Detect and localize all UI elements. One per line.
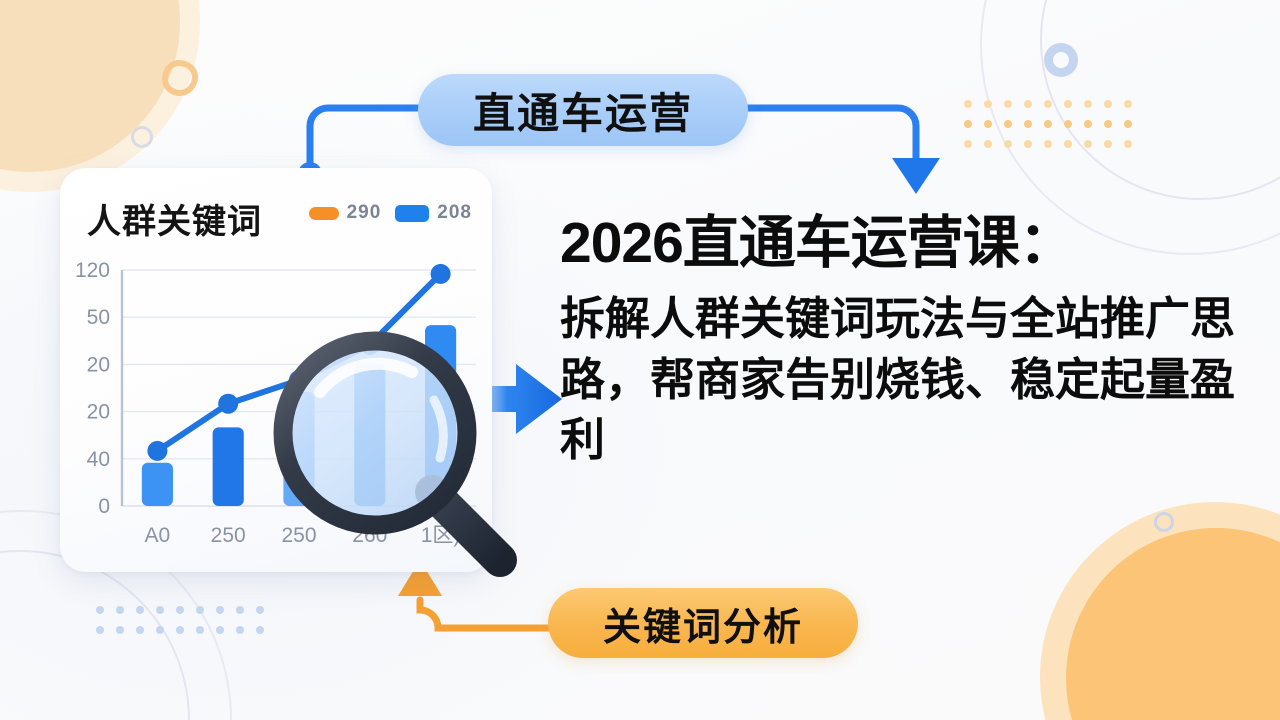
legend-item-orange: 290 — [309, 202, 382, 224]
decor-blob-bottom-right — [1066, 528, 1280, 720]
svg-text:20: 20 — [87, 401, 110, 424]
badge-top[interactable]: 直通车运营 — [418, 74, 748, 146]
decor-ring-gray-icon — [131, 126, 153, 148]
legend-swatch-orange-icon — [309, 207, 339, 220]
legend-item-blue: 208 — [395, 202, 472, 224]
headline-block: 2026直通车运营课： 拆解人群关键词玩法与全站推广思路，帮商家告别烧钱、稳定起… — [560, 210, 1250, 470]
decor-blob-top-left-halo — [0, 0, 200, 192]
svg-text:A0: A0 — [145, 524, 171, 547]
decor-ring-orange-icon — [162, 60, 198, 96]
decor-ring-blue-icon — [1044, 43, 1078, 77]
legend-label-orange: 290 — [347, 202, 382, 224]
decor-blob-top-left — [0, 0, 180, 172]
decor-arc-bottom-left-inner — [0, 550, 190, 720]
poster-canvas: 人群关键词 290 208 120502020400A02502502601区) — [0, 0, 1280, 720]
chart-card-title: 人群关键词 — [87, 194, 262, 243]
badge-bottom[interactable]: 关键词分析 — [548, 588, 858, 658]
legend-swatch-blue-icon — [395, 205, 429, 222]
decor-dot-grid-blue — [96, 606, 264, 634]
svg-text:0: 0 — [98, 495, 110, 518]
headline-body: 拆解人群关键词玩法与全站推广思路，帮商家告别烧钱、稳定起量盈利 — [560, 289, 1250, 470]
legend-label-blue: 208 — [437, 202, 472, 224]
decor-blob-bottom-right-halo — [1040, 502, 1280, 720]
headline-line-1: 2026直通车运营课： — [560, 210, 1250, 277]
decor-dot-grid-orange — [964, 100, 1132, 148]
decor-ring-blue-small-icon — [1154, 512, 1174, 532]
svg-text:120: 120 — [75, 259, 110, 282]
svg-text:40: 40 — [87, 448, 110, 471]
magnifying-glass-icon — [272, 330, 532, 595]
svg-text:250: 250 — [211, 524, 246, 547]
svg-text:20: 20 — [87, 353, 110, 376]
chart-legend: 290 208 — [309, 202, 472, 224]
svg-text:50: 50 — [87, 306, 110, 329]
connector-blue-right — [742, 96, 942, 206]
